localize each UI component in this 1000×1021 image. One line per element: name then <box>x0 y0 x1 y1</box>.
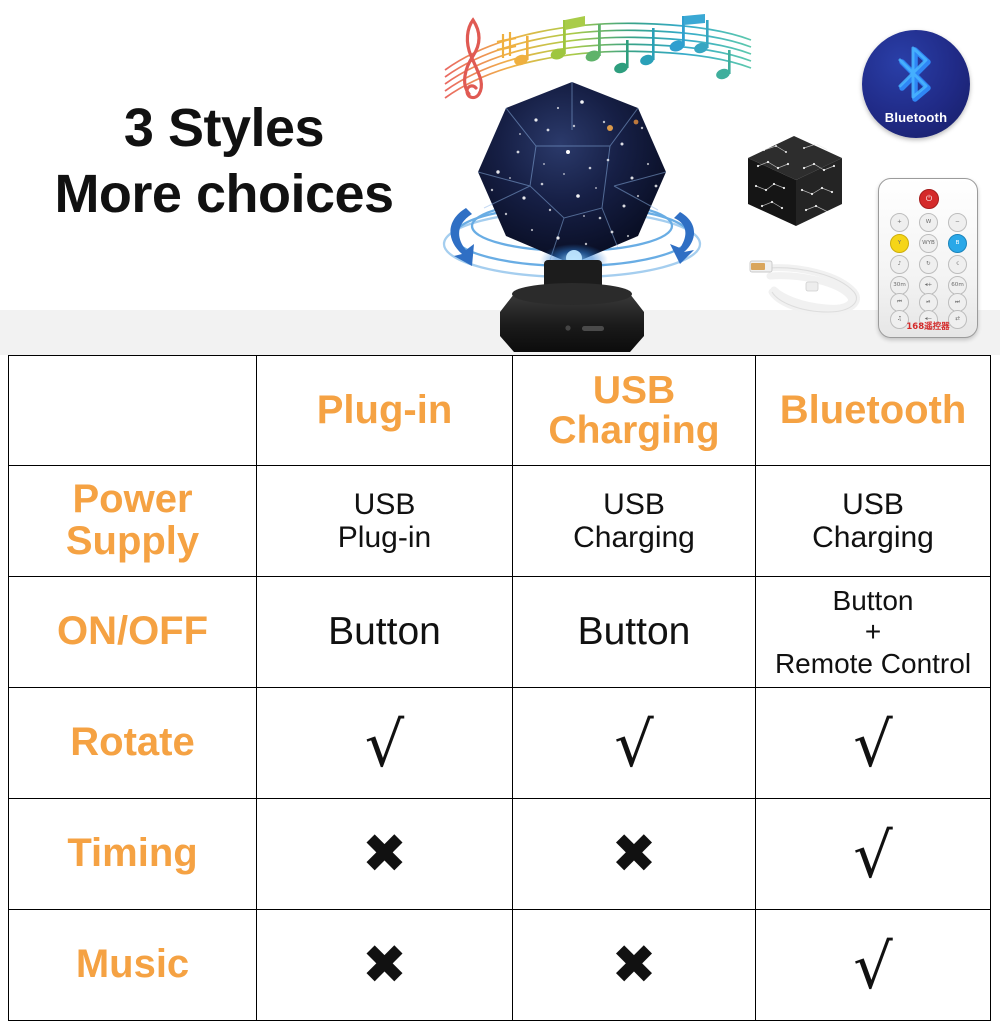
remote-model-label: 168遥控器 <box>879 320 977 332</box>
remote-button-minus: − <box>948 213 967 232</box>
check-icon: √ <box>760 936 986 998</box>
cell-power-supply-plug-in: USB Plug-in <box>257 466 513 577</box>
cross-icon: ✖ <box>261 938 508 992</box>
cell-music-usb-charging: ✖ <box>513 910 756 1021</box>
remote-button-sound: ♪ <box>890 255 909 274</box>
cell-music-bluetooth: √ <box>756 910 991 1021</box>
cell-on-off-plug-in: Button <box>257 577 513 688</box>
column-header-usb-charging: USB Charging <box>513 356 756 466</box>
remote-button-rotate: ↻ <box>919 255 938 274</box>
remote-button-flash: ☇ <box>948 255 967 274</box>
cell-power-supply-usb-charging: USB Charging <box>513 466 756 577</box>
row-label-on-off: ON/OFF <box>9 577 257 688</box>
table-row: Power Supply USB Plug-in USB Charging US… <box>9 466 991 577</box>
cell-power-supply-bluetooth: USB Charging <box>756 466 991 577</box>
remote-button-b: B <box>948 234 967 253</box>
comparison-table: Plug-in USB Charging Bluetooth Power Sup… <box>8 355 991 1021</box>
headline-line-2: More choices <box>14 164 434 224</box>
column-header-plug-in: Plug-in <box>257 356 513 466</box>
table-header-row: Plug-in USB Charging Bluetooth <box>9 356 991 466</box>
cell-timing-plug-in: ✖ <box>257 799 513 910</box>
constellation-gift-box-image <box>738 128 850 230</box>
table-row: ON/OFF Button Button Button + Remote Con… <box>9 577 991 688</box>
page-title: 3 Styles More choices <box>14 98 434 225</box>
cell-rotate-usb-charging: √ <box>513 688 756 799</box>
cell-timing-bluetooth: √ <box>756 799 991 910</box>
table-corner-cell <box>9 356 257 466</box>
row-label-rotate: Rotate <box>9 688 257 799</box>
column-header-bluetooth: Bluetooth <box>756 356 991 466</box>
cell-rotate-bluetooth: √ <box>756 688 991 799</box>
remote-button-w: W <box>919 213 938 232</box>
hero-banner: 3 Styles More choices <box>0 0 1000 355</box>
cell-music-plug-in: ✖ <box>257 910 513 1021</box>
cell-on-off-bluetooth: Button + Remote Control <box>756 577 991 688</box>
row-label-power-supply: Power Supply <box>9 466 257 577</box>
usb-charging-cable-image <box>742 248 868 324</box>
bluetooth-badge-label: Bluetooth <box>862 110 970 125</box>
table-row: Rotate √ √ √ <box>9 688 991 799</box>
cell-timing-usb-charging: ✖ <box>513 799 756 910</box>
cross-icon: ✖ <box>261 827 508 881</box>
bluetooth-badge: Bluetooth <box>862 30 970 138</box>
cell-rotate-plug-in: √ <box>257 688 513 799</box>
table-row: Timing ✖ ✖ √ <box>9 799 991 910</box>
remote-button-power: ⏻ <box>919 189 939 209</box>
remote-button-wyb: WYB <box>919 234 938 253</box>
check-icon: √ <box>760 825 986 887</box>
check-icon: √ <box>261 714 508 776</box>
headline-line-1: 3 Styles <box>14 98 434 158</box>
bluetooth-icon <box>892 44 940 106</box>
check-icon: √ <box>760 714 986 776</box>
star-projector-lamp-image <box>432 68 712 360</box>
check-icon: √ <box>517 714 751 776</box>
remote-control-image: ⏻ + W − Y WYB B ♪ ↻ ☇ 30m ◂+ 60m ⏮ ⏯ ⏭ ♫… <box>878 178 978 338</box>
cell-on-off-usb-charging: Button <box>513 577 756 688</box>
row-label-timing: Timing <box>9 799 257 910</box>
cross-icon: ✖ <box>517 938 751 992</box>
remote-button-y: Y <box>890 234 909 253</box>
remote-button-plus: + <box>890 213 909 232</box>
cross-icon: ✖ <box>517 827 751 881</box>
table-row: Music ✖ ✖ √ <box>9 910 991 1021</box>
row-label-music: Music <box>9 910 257 1021</box>
